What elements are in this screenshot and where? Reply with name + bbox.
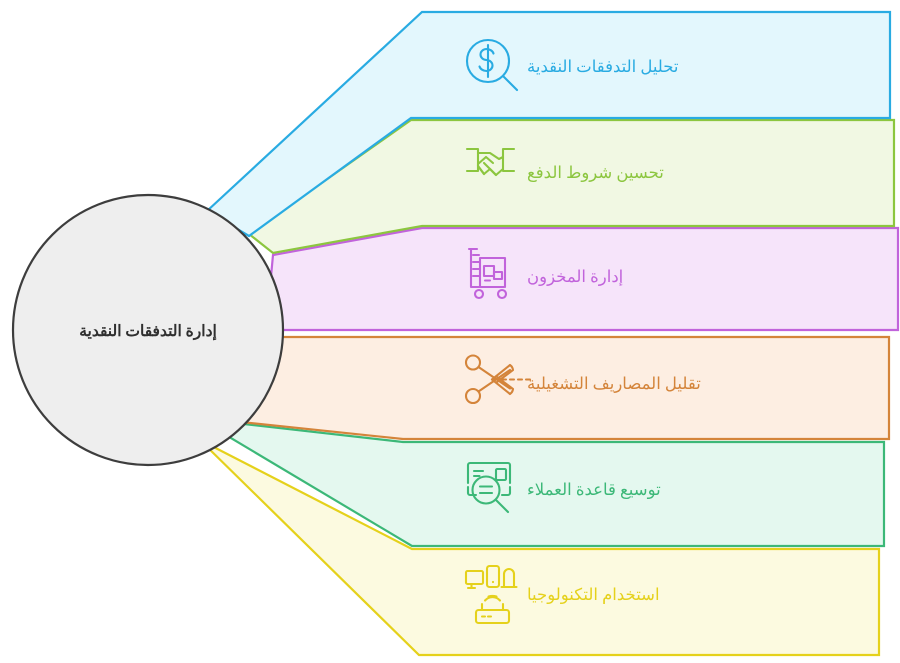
branch-label-4: تقليل المصاريف التشغيلية (527, 374, 701, 394)
branch-label-5: توسيع قاعدة العملاء (527, 480, 661, 500)
hub-label: إدارة التدفقات النقدية (79, 323, 217, 341)
infographic-diagram: استخدام التكنولوجيا توسيع قاعدة العملاء (0, 0, 900, 663)
branch-label-3: إدارة المخزون (527, 267, 623, 287)
diagram-canvas: استخدام التكنولوجيا توسيع قاعدة العملاء (0, 0, 900, 663)
branch-item-3[interactable]: إدارة المخزون (266, 228, 898, 330)
branch-label-2: تحسين شروط الدفع (527, 163, 664, 183)
branch-label-6: استخدام التكنولوجيا (527, 585, 660, 605)
hub-node[interactable]: إدارة التدفقات النقدية (13, 195, 283, 465)
branch-label-1: تحليل التدفقات النقدية (527, 57, 679, 76)
branch-item-4[interactable]: تقليل المصاريف التشغيلية (203, 330, 889, 439)
